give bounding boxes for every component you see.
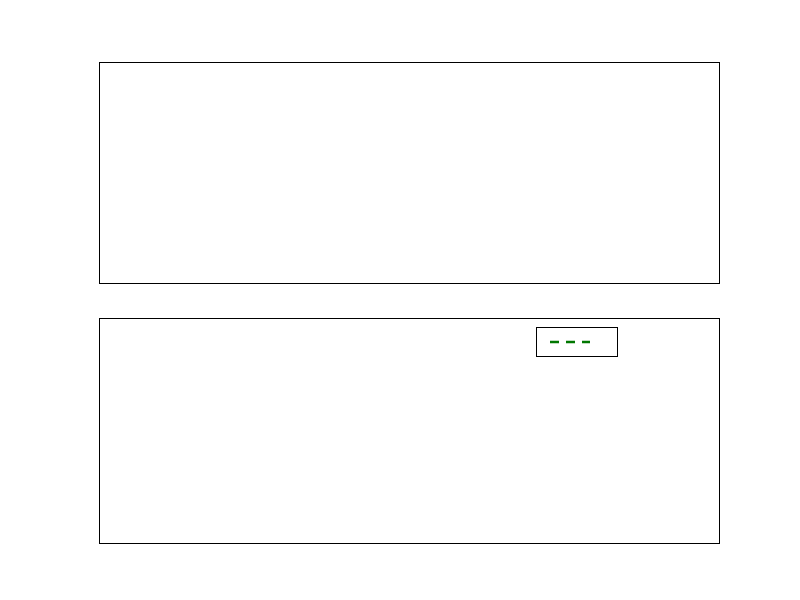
cumulative-histogram-axes xyxy=(99,318,720,544)
cumulative-histogram-plot-area xyxy=(100,319,719,543)
legend xyxy=(536,327,618,357)
cumulative-histogram-canvas xyxy=(100,319,719,543)
differential-histogram-axes xyxy=(99,62,720,284)
mag-limit-legend-line-icon xyxy=(549,335,591,349)
differential-histogram-plot-area xyxy=(100,63,719,283)
matplotlib-figure xyxy=(0,0,800,600)
differential-histogram-canvas xyxy=(100,63,719,283)
